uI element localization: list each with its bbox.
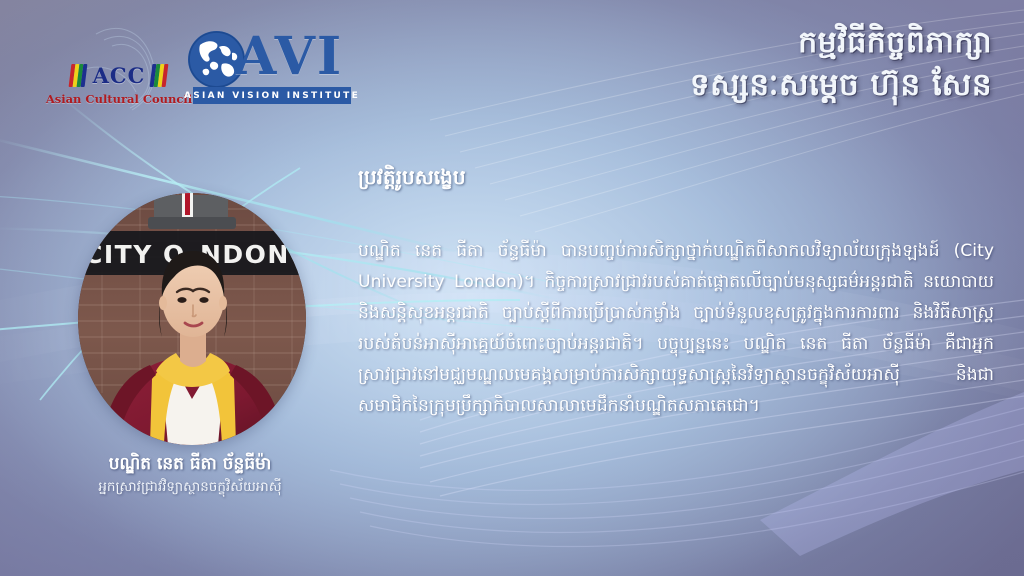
avi-logo-tagline-bar: ASIAN VISION INSTITUTE: [193, 87, 351, 104]
acc-flag-icon-left: [70, 64, 87, 87]
portrait-illustration: CITY O NDON: [78, 193, 306, 445]
logo-bar: ACC Asian Cultural Council: [0, 0, 420, 130]
biography-text: បណ្ឌិត នេត ធីតា ច័ន្ទធីម៉ា បានបញ្ចប់ការស…: [358, 236, 994, 422]
acc-logo: ACC Asian Cultural Council: [60, 52, 178, 114]
speaker-name: បណ្ឌិត នេត ធីតា ច័ន្ទធីម៉ា: [20, 452, 360, 476]
avi-logo-abbr: AVI: [236, 29, 343, 85]
presentation-slide: ACC Asian Cultural Council: [0, 0, 1024, 576]
acc-flag-icon-right: [151, 64, 168, 87]
speaker-caption: បណ្ឌិត នេត ធីតា ច័ន្ទធីម៉ា អ្នកស្រាវជ្រា…: [20, 452, 360, 498]
title-line-2: ទស្សនៈសម្តេច ហ៊ុន សែន: [472, 64, 992, 106]
title-line-1: កម្មវិធីកិច្ចពិភាក្សា: [472, 22, 992, 64]
avi-logo: AVI ASIAN VISION INSTITUTE: [188, 27, 353, 109]
slide-title: កម្មវិធីកិច្ចពិភាក្សា ទស្សនៈសម្តេច ហ៊ុន …: [472, 22, 992, 106]
speaker-role: អ្នកស្រាវជ្រាវវិទ្យាស្ថានចក្ខុវិស័យអាស៊ី: [20, 476, 360, 498]
section-heading: ប្រវត្តិរូបសង្ខេប: [358, 162, 466, 192]
speaker-photo-circle: CITY O NDON: [78, 193, 306, 445]
speaker-photo: CITY O NDON: [78, 193, 306, 445]
acc-logo-row: ACC: [70, 61, 169, 91]
acc-logo-fullname: Asian Cultural Council: [46, 92, 192, 106]
avi-logo-fullname: ASIAN VISION INSTITUTE: [184, 91, 360, 101]
acc-logo-abbr: ACC: [93, 63, 146, 88]
